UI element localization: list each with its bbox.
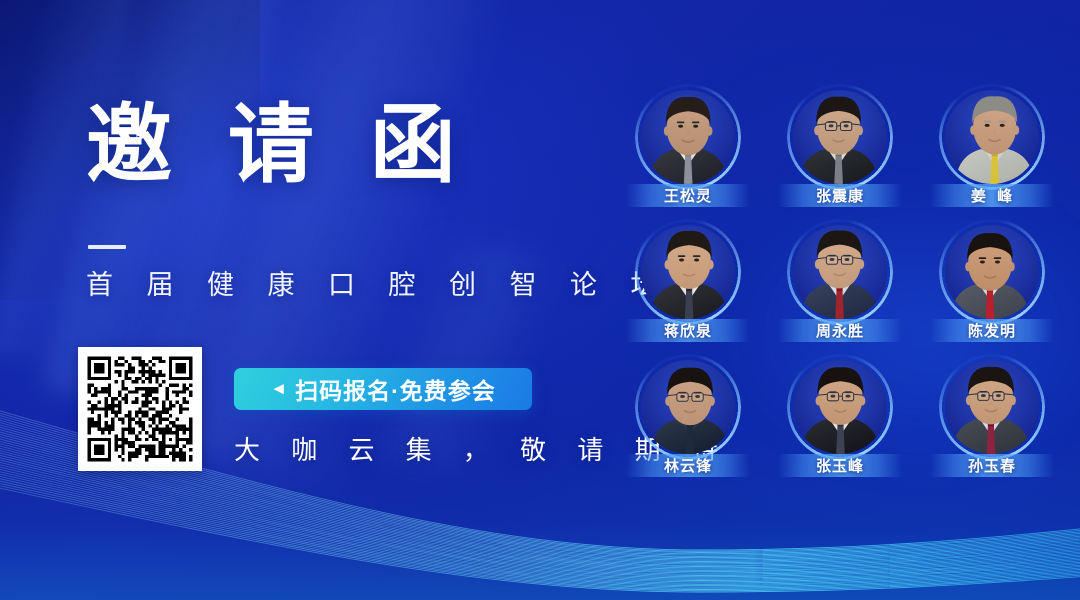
speaker-avatar	[945, 225, 1039, 319]
speaker-card[interactable]: 王松灵	[612, 84, 764, 219]
speaker-avatar	[641, 360, 735, 454]
speaker-name: 姜 峰	[971, 185, 1013, 206]
speaker-nameplate: 孙玉春	[930, 454, 1054, 477]
qr-code[interactable]	[78, 347, 202, 471]
speaker-nameplate: 周永胜	[778, 319, 902, 342]
speaker-avatar	[793, 90, 887, 184]
speaker-card[interactable]: 姜 峰	[916, 84, 1068, 219]
invitation-poster: 邀 请 函 首 届 健 康 口 腔 创 智 论 坛 ◄ 扫码报名·免费参会 大 …	[0, 0, 1080, 600]
speaker-name: 周永胜	[816, 320, 864, 341]
speaker-avatar	[945, 90, 1039, 184]
speaker-nameplate: 姜 峰	[930, 184, 1054, 207]
speaker-avatar	[945, 360, 1039, 454]
speaker-name: 陈发明	[968, 320, 1016, 341]
register-button[interactable]: ◄ 扫码报名·免费参会	[234, 368, 532, 410]
register-button-label: 扫码报名·免费参会	[295, 372, 496, 406]
page-subtitle: 首 届 健 康 口 腔 创 智 论 坛	[86, 268, 671, 303]
speaker-name: 王松灵	[664, 185, 712, 206]
left-content: 邀 请 函 首 届 健 康 口 腔 创 智 论 坛 ◄ 扫码报名·免费参会 大 …	[0, 0, 600, 600]
speaker-card[interactable]: 张震康	[764, 84, 916, 219]
speaker-nameplate: 陈发明	[930, 319, 1054, 342]
page-title: 邀 请 函	[86, 102, 472, 188]
speaker-nameplate: 王松灵	[626, 184, 750, 207]
speaker-nameplate: 林云锋	[626, 454, 750, 477]
speaker-card[interactable]: 蒋欣泉	[612, 219, 764, 354]
speaker-card[interactable]: 周永胜	[764, 219, 916, 354]
speaker-card[interactable]: 张玉峰	[764, 354, 916, 489]
speaker-nameplate: 张震康	[778, 184, 902, 207]
speaker-name: 张玉峰	[816, 455, 864, 476]
speaker-name: 张震康	[816, 185, 864, 206]
speaker-avatar	[641, 225, 735, 319]
speaker-name: 林云锋	[664, 455, 712, 476]
qr-code-canvas	[84, 353, 196, 465]
title-divider	[88, 245, 126, 249]
left-arrow-icon: ◄	[270, 380, 287, 397]
speaker-card[interactable]: 孙玉春	[916, 354, 1068, 489]
speaker-grid: 王松灵	[612, 84, 1068, 489]
speaker-name: 孙玉春	[968, 455, 1016, 476]
speaker-card[interactable]: 林云锋	[612, 354, 764, 489]
speaker-avatar	[793, 360, 887, 454]
speaker-name: 蒋欣泉	[664, 320, 712, 341]
speaker-nameplate: 蒋欣泉	[626, 319, 750, 342]
speaker-nameplate: 张玉峰	[778, 454, 902, 477]
speaker-avatar	[641, 90, 735, 184]
speaker-card[interactable]: 陈发明	[916, 219, 1068, 354]
speaker-avatar	[793, 225, 887, 319]
